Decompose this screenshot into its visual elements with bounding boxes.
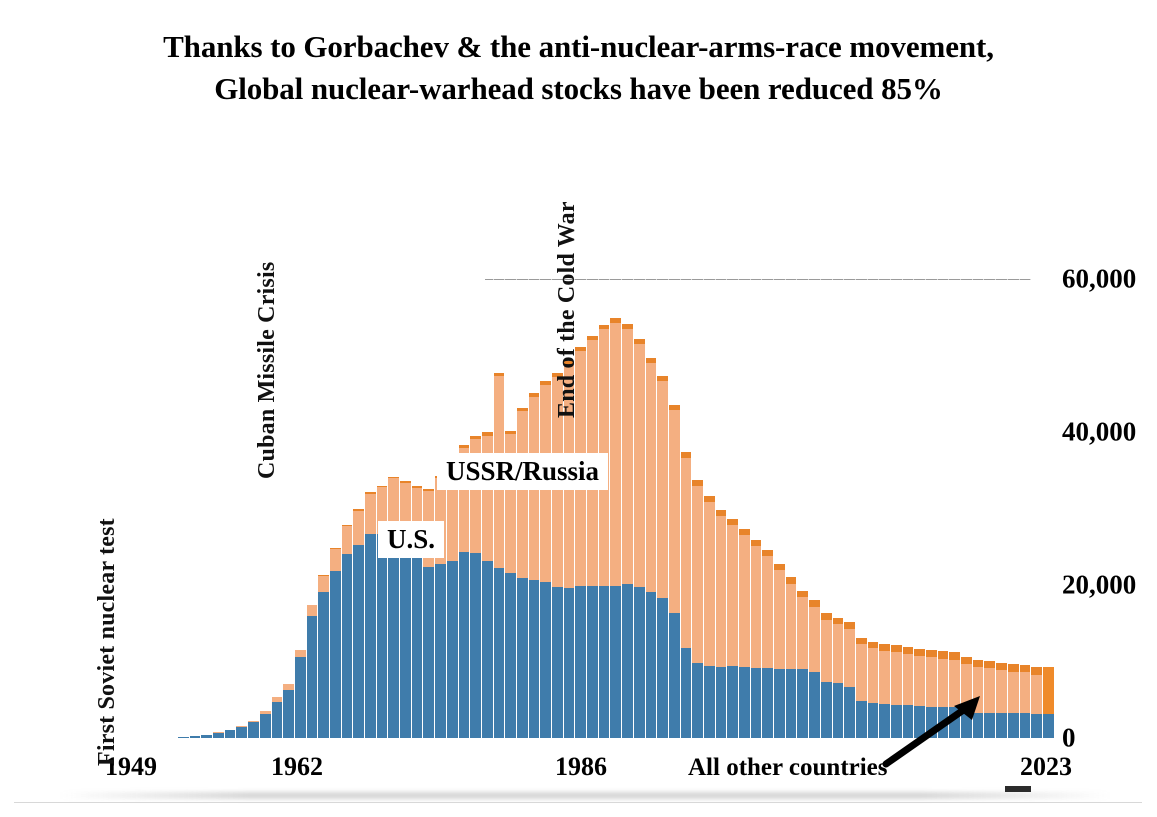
bar-1984 [587,279,599,738]
bar-1991 [669,279,681,738]
segment-us [236,727,247,738]
bar-1950 [190,279,202,738]
segment-us [868,703,879,738]
bar-1995 [716,279,728,738]
y-tick-40000: 40,000 [1062,417,1136,448]
bar-1990 [657,279,669,738]
segment-other [856,638,867,645]
bar-1994 [704,279,716,738]
bar-2018 [984,279,996,738]
segment-us [774,669,785,738]
segment-other [1043,667,1054,675]
segment-us [295,657,306,738]
bar-1979 [529,279,541,738]
segment-ussr [844,629,855,687]
segment-ussr [622,329,633,584]
segment-us [283,690,294,738]
segment-us [307,616,318,738]
segment-us [178,737,189,738]
bar-2009 [879,279,891,738]
bar-1973 [459,279,471,738]
bar-1967 [388,279,400,738]
bar-1977 [505,279,517,738]
segment-us [388,533,399,738]
segment-ussr [996,670,1007,713]
segment-us [1043,714,1054,738]
segment-ussr [517,411,528,578]
bar-1959 [295,279,307,738]
segment-other [961,657,972,664]
segment-us [622,584,633,738]
segment-ussr [342,526,353,554]
bar-1987 [622,279,634,738]
segment-ussr [797,597,808,669]
bar-1976 [494,279,506,738]
page-title: Thanks to Gorbachev & the anti-nuclear-a… [0,26,1157,110]
y-tick-0: 0 [1062,723,1076,754]
annotation-end-of-cold-war: End of the Cold War [554,201,581,418]
segment-ussr [751,546,762,667]
bar-1986 [610,279,622,738]
bar-2015 [949,279,961,738]
bar-1974 [470,279,482,738]
segment-other [996,663,1007,670]
segment-us [751,668,762,738]
segment-ussr [330,549,341,571]
segment-ussr [307,605,318,616]
bar-2020 [1008,279,1020,738]
segment-ussr [727,525,738,666]
bar-2000 [774,279,786,738]
segment-us [400,544,411,738]
segment-us [459,552,470,738]
bar-2022 [1031,279,1043,738]
segment-other [926,650,937,657]
segment-ussr [1031,675,1042,714]
bar-1975 [482,279,494,738]
segment-ussr [295,650,306,657]
segment-us [739,667,750,738]
segment-us [470,553,481,738]
bar-2021 [1020,279,1032,738]
bar-1978 [517,279,529,738]
segment-other [973,660,984,667]
bar-1961 [318,279,330,738]
bar-1962 [330,279,342,738]
bottom-shadow [60,792,1110,799]
bar-2012 [914,279,926,738]
segment-ussr [774,570,785,668]
x-tick-2023: 2023 [1020,752,1072,782]
segment-other [891,645,902,652]
x-tick-1962: 1962 [271,752,323,782]
segment-us [704,666,715,738]
bar-1958 [283,279,295,738]
bar-1998 [751,279,763,738]
segment-ussr [762,556,773,667]
segment-ussr [365,494,376,534]
segment-us [190,736,201,738]
segment-us [423,567,434,738]
bar-2003 [809,279,821,738]
segment-us [447,561,458,738]
bar-2017 [973,279,985,738]
bar-2004 [821,279,833,738]
bar-2002 [797,279,809,738]
bar-1980 [540,279,552,738]
bar-2023 [1043,279,1054,738]
segment-ussr [669,410,680,613]
x-tick-1986: 1986 [555,752,607,782]
segment-ussr [1020,672,1031,713]
bar-1996 [727,279,739,738]
segment-other [903,647,914,654]
bar-1971 [435,279,447,738]
bar-1988 [634,279,646,738]
segment-us [494,568,505,738]
bar-1953 [225,279,237,738]
segment-us [505,573,516,738]
segment-ussr [634,344,645,587]
segment-us [318,592,329,738]
segment-us [517,578,528,738]
segment-other [868,642,879,649]
segment-other [984,661,995,668]
bottom-tick-mark [1005,786,1031,792]
bar-1992 [681,279,693,738]
segment-us [330,571,341,738]
segment-ussr [610,323,621,586]
bar-2001 [786,279,798,738]
bar-1964 [353,279,365,738]
segment-ussr [353,511,364,545]
segment-us [552,587,563,738]
bar-1954 [236,279,248,738]
bar-1997 [739,279,751,738]
segment-us [1008,713,1019,738]
bar-1963 [342,279,354,738]
segment-us [657,598,668,738]
chart-page: Thanks to Gorbachev & the anti-nuclear-a… [0,0,1157,817]
segment-us [272,702,283,738]
segment-ussr [692,486,703,663]
segment-us [844,687,855,738]
annotation-all-other-countries: All other countries [680,752,896,784]
bar-1999 [762,279,774,738]
bar-2011 [903,279,915,738]
bar-1993 [692,279,704,738]
segment-us [681,648,692,738]
segment-other [949,652,960,659]
segment-us [646,592,657,738]
segment-us [587,586,598,738]
segment-ussr [833,624,844,683]
segment-us [377,534,388,738]
bar-2006 [844,279,856,738]
segment-us [225,730,236,738]
segment-us [809,672,820,738]
bar-1970 [423,279,435,738]
segment-ussr [704,502,715,666]
segment-us [482,561,493,738]
segment-ussr [657,381,668,597]
segment-ussr [739,535,750,666]
segment-us [786,669,797,738]
y-tick-20000: 20,000 [1062,570,1136,601]
title-line-2: Global nuclear-warhead stocks have been … [0,68,1157,110]
title-line-1: Thanks to Gorbachev & the anti-nuclear-a… [0,26,1157,68]
segment-us [856,701,867,738]
segment-us [821,682,832,738]
bar-2019 [996,279,1008,738]
segment-us [1031,714,1042,738]
segment-us [342,554,353,738]
segment-us [669,613,680,738]
segment-us [575,586,586,738]
segment-ussr [786,584,797,669]
bar-1969 [412,279,424,738]
segment-other [1020,665,1031,673]
segment-us [564,588,575,738]
series-label-ussr: USSR/Russia [437,453,608,490]
bar-1965 [365,279,377,738]
segment-ussr [809,607,820,673]
segment-us [634,587,645,738]
bar-2008 [868,279,880,738]
segment-us [727,666,738,738]
segment-us [599,586,610,738]
segment-us [213,733,224,739]
bar-1985 [599,279,611,738]
segment-us [529,580,540,738]
bar-2016 [961,279,973,738]
segment-us [353,545,364,738]
segment-other [914,649,925,656]
segment-ussr [1008,672,1019,714]
segment-us [833,683,844,738]
segment-ussr [646,363,657,593]
arrow-icon [880,690,990,770]
bottom-rule [14,802,1142,803]
bar-1951 [201,279,213,738]
segment-ussr [868,648,879,703]
segment-us [540,582,551,738]
segment-ussr [681,458,692,648]
segment-other [1008,664,1019,672]
segment-us [260,714,271,738]
segment-ussr [716,516,727,667]
segment-other [879,644,890,651]
bar-1968 [400,279,412,738]
y-tick-60000: 60,000 [1062,264,1136,295]
segment-us [716,667,727,738]
bar-1960 [307,279,319,738]
segment-ussr [318,576,329,592]
segment-us [248,722,259,738]
segment-ussr [821,620,832,682]
segment-us [1020,713,1031,738]
segment-other [1031,667,1042,675]
plot-area [178,279,1053,738]
segment-us [610,586,621,738]
segment-us [412,557,423,738]
segment-us [692,663,703,738]
bar-2010 [891,279,903,738]
segment-us [435,564,446,738]
segment-us [996,713,1007,738]
segment-us [365,534,376,738]
series-label-us: U.S. [378,521,444,558]
bar-1972 [447,279,459,738]
stacked-bar-series [178,279,1053,738]
bar-2014 [938,279,950,738]
bar-1949 [178,279,190,738]
segment-ussr [1043,675,1054,714]
annotation-first-soviet-test: First Soviet nuclear test [94,518,121,766]
segment-ussr [856,644,867,700]
annotation-cuban-missile-crisis: Cuban Missile Crisis [254,262,281,479]
segment-other [938,651,949,658]
bar-2005 [833,279,845,738]
bar-1952 [213,279,225,738]
segment-us [201,735,212,738]
segment-us [762,668,773,738]
bar-1989 [646,279,658,738]
bar-2007 [856,279,868,738]
bar-2013 [926,279,938,738]
segment-us [797,669,808,738]
segment-other [844,622,855,629]
bar-1966 [377,279,389,738]
